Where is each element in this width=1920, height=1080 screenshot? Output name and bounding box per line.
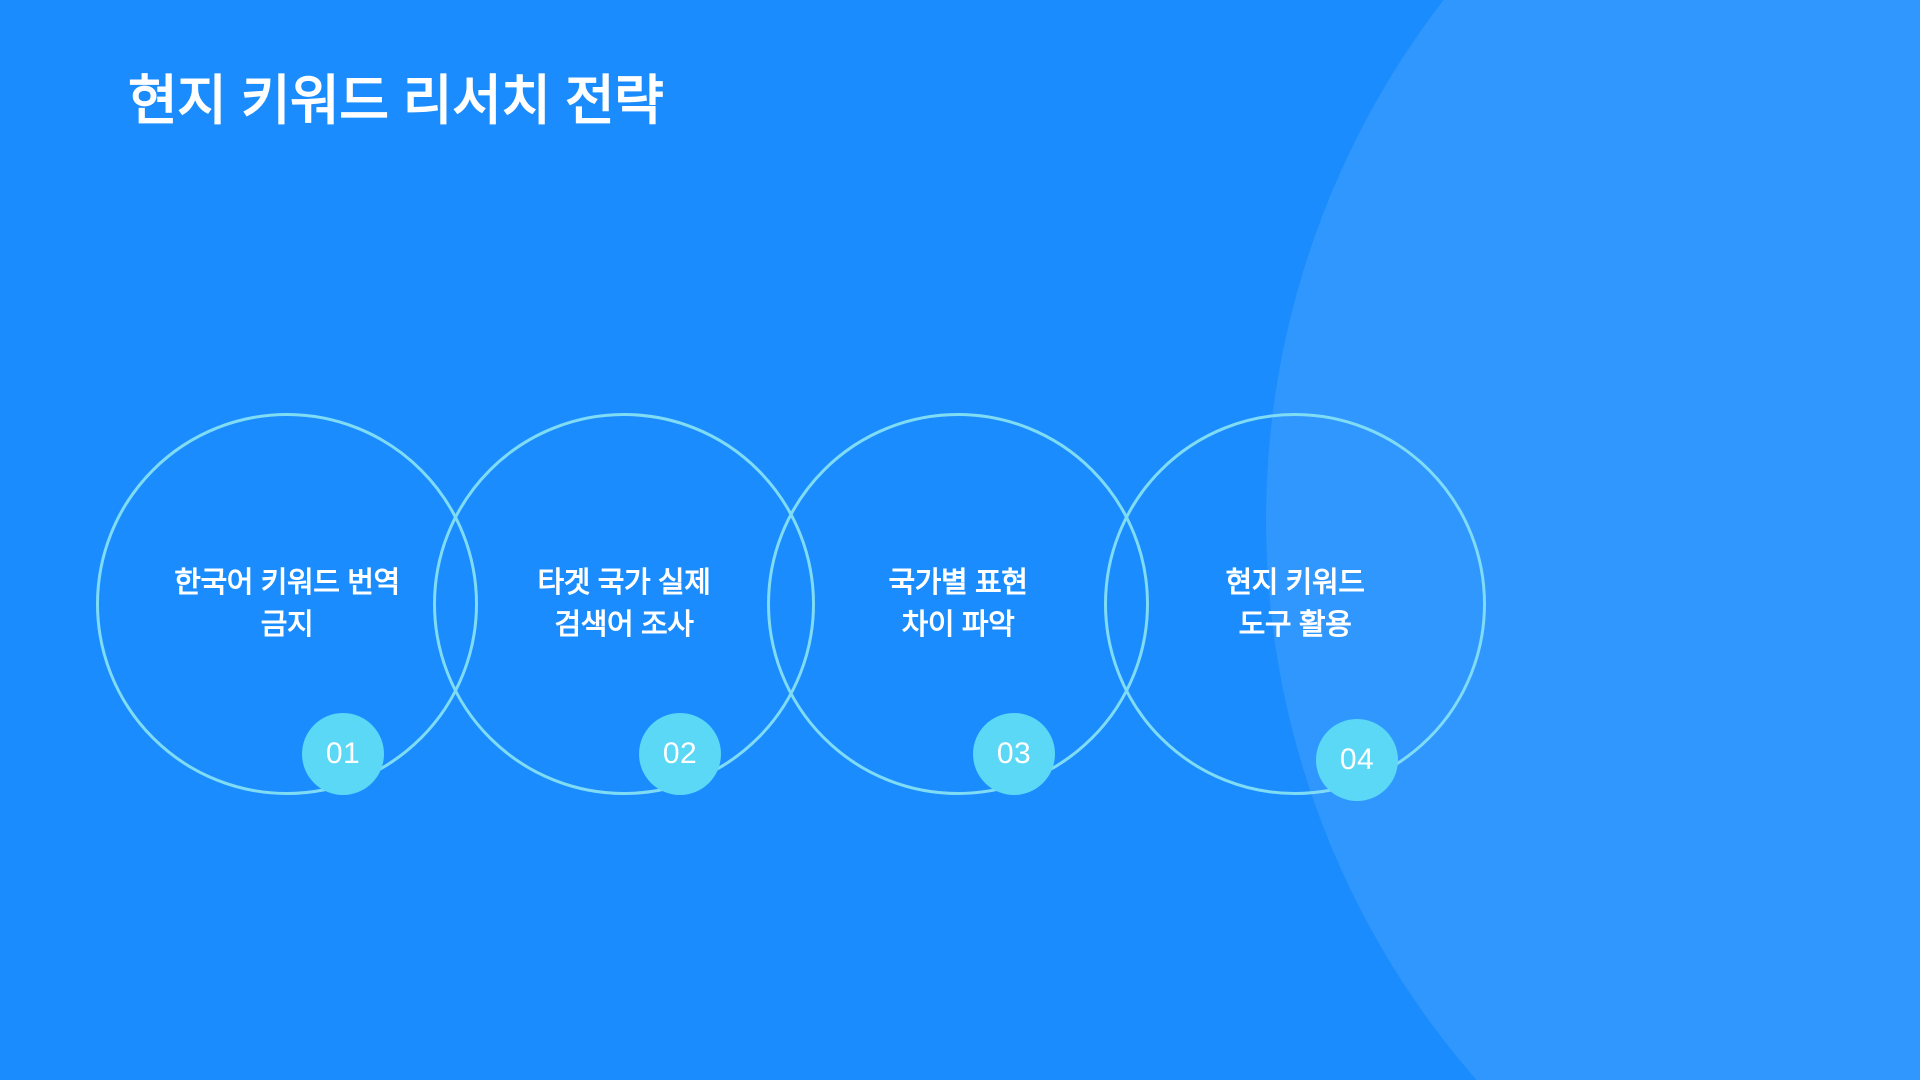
step-number-badge: 03 (973, 713, 1055, 795)
slide-canvas: 현지 키워드 리서치 전략 한국어 키워드 번역 금지 01 타겟 국가 실제 … (0, 0, 1920, 1080)
process-step-4[interactable]: 현지 키워드 도구 활용 04 (1104, 413, 1486, 795)
process-step-2[interactable]: 타겟 국가 실제 검색어 조사 02 (433, 413, 815, 795)
process-circle-row: 한국어 키워드 번역 금지 01 타겟 국가 실제 검색어 조사 02 국가별 … (0, 0, 1920, 1080)
step-label: 국가별 표현 차이 파악 (793, 562, 1123, 646)
step-number-badge: 01 (302, 713, 384, 795)
process-step-3[interactable]: 국가별 표현 차이 파악 03 (767, 413, 1149, 795)
step-number-badge: 02 (639, 713, 721, 795)
step-label: 타겟 국가 실제 검색어 조사 (459, 562, 789, 646)
step-label: 한국어 키워드 번역 금지 (122, 562, 452, 646)
step-label: 현지 키워드 도구 활용 (1130, 562, 1460, 646)
step-number-badge: 04 (1316, 719, 1398, 801)
process-step-1[interactable]: 한국어 키워드 번역 금지 01 (96, 413, 478, 795)
